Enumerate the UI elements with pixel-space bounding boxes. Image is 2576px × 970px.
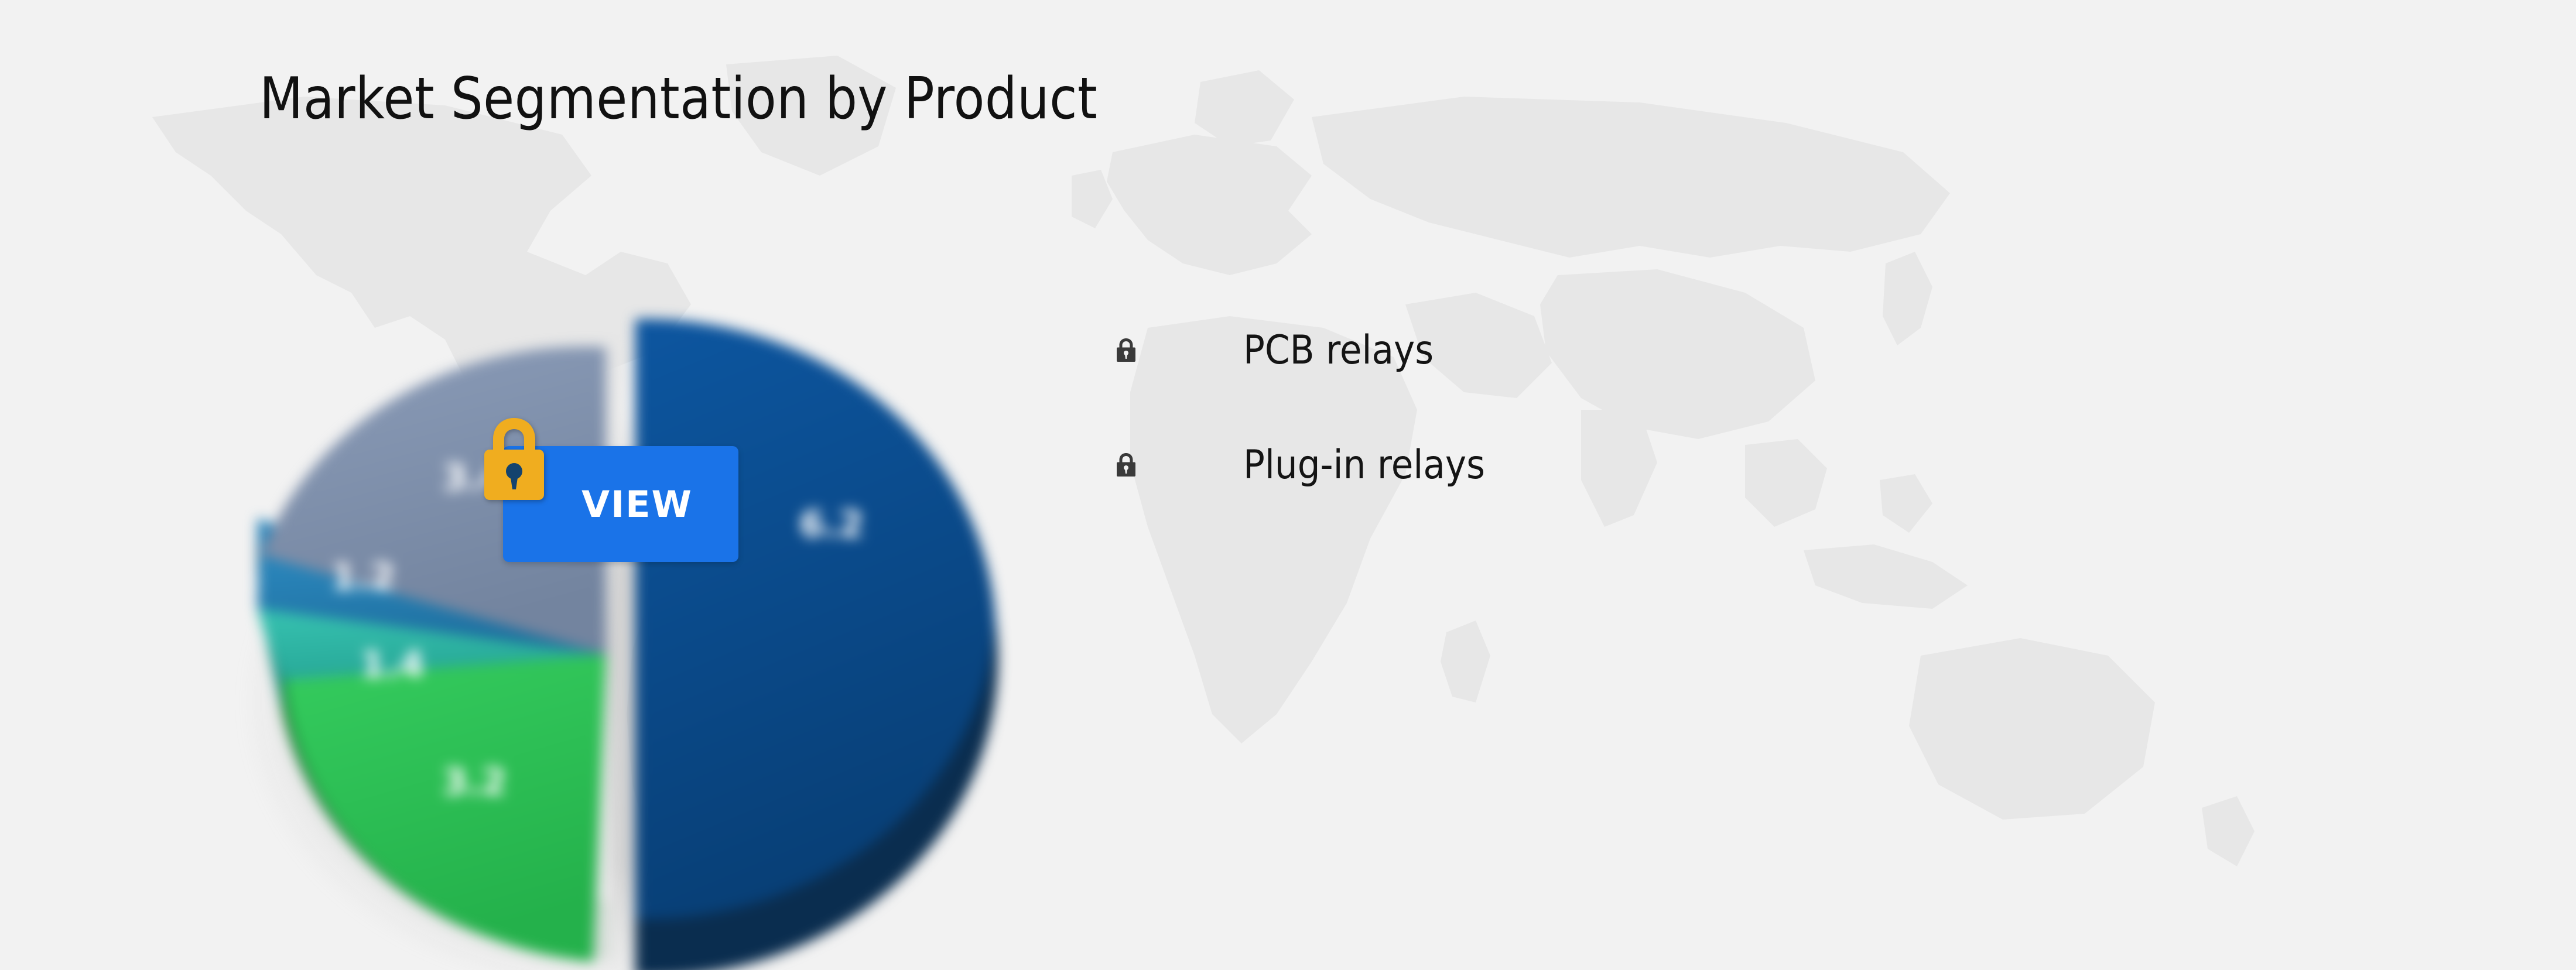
legend-item-plug-in-relays[interactable]: Plug-in relays [1116,407,1935,522]
slide-canvas: Market Segmentation by Product [0,0,2576,970]
chart-legend: PCB relays Plug-in relays [1116,293,1935,522]
legend-item-pcb-relays[interactable]: PCB relays [1116,293,1935,407]
svg-text:1.4: 1.4 [360,643,425,686]
lock-icon [1116,453,1137,477]
svg-text:3.2: 3.2 [442,760,507,803]
lock-icon [1116,338,1137,362]
page-title: Market Segmentation by Product [259,68,1097,131]
legend-item-label: PCB relays [1243,327,1434,373]
svg-text:6.2: 6.2 [799,503,864,546]
locked-content-overlay[interactable]: VIEW [482,416,751,574]
padlock-icon [482,416,546,502]
svg-text:1.2: 1.2 [331,556,395,598]
view-button-label: VIEW [549,483,693,526]
legend-item-label: Plug-in relays [1243,442,1485,488]
